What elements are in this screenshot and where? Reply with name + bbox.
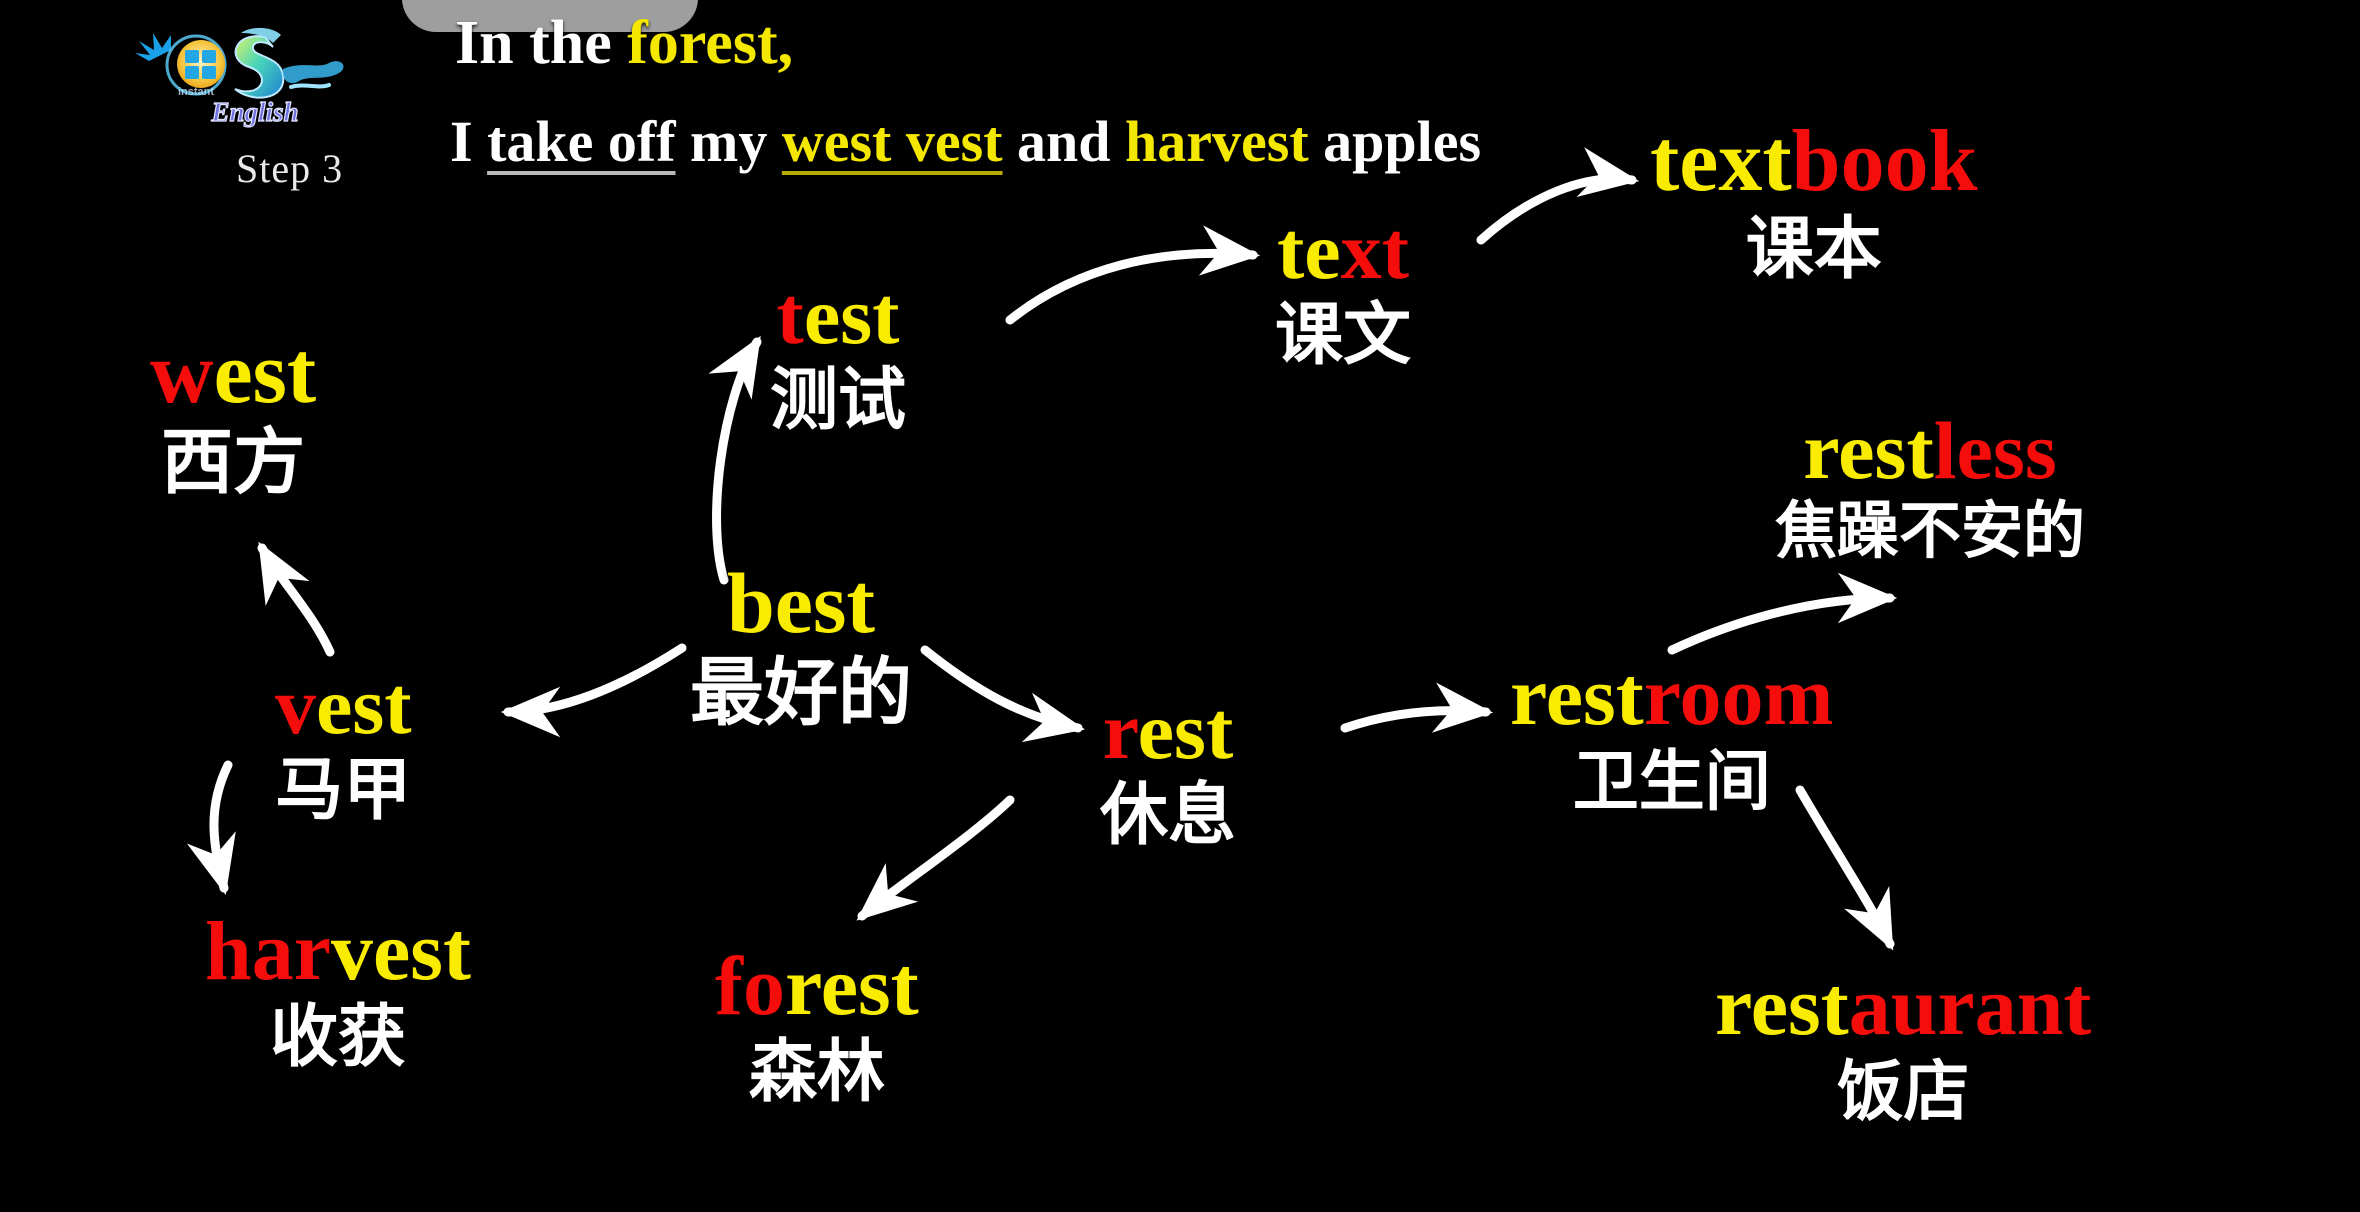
word-restaurant: restaurant	[1715, 965, 2091, 1049]
word-west-prefix: w	[150, 325, 214, 422]
svg-text:instant: instant	[178, 86, 214, 98]
arrow-best-to-test	[717, 342, 757, 580]
step-label: Step 3	[236, 145, 343, 192]
os-english-logo: English instant	[133, 17, 365, 132]
word-textbook-translation: 课本	[1650, 212, 1978, 287]
sentence-line-2: I take off my west vest and harvest appl…	[450, 108, 1481, 175]
word-node-text[interactable]: text 课文	[1275, 210, 1411, 373]
word-forest: forest	[715, 945, 919, 1029]
word-node-restroom[interactable]: restroom 卫生间	[1510, 655, 1833, 818]
word-rest-suffix: est	[1138, 685, 1234, 776]
arrow-best-to-vest	[508, 648, 682, 712]
word-forest-prefix: fo	[715, 940, 785, 1033]
word-node-west[interactable]: west 西方	[150, 330, 316, 503]
word-forest-translation: 森林	[715, 1035, 919, 1110]
word-node-textbook[interactable]: textbook 课本	[1650, 118, 1978, 287]
word-restaurant-suffix: aurant	[1849, 960, 2092, 1053]
arrow-rest-to-forest	[862, 800, 1010, 916]
word-vest-suffix: est	[316, 660, 412, 751]
arrow-rest-to-restroom	[1345, 711, 1486, 728]
word-harvest-suffix: vest	[331, 905, 471, 998]
word-text-suffix: xt	[1341, 205, 1409, 296]
word-west-suffix: est	[214, 325, 317, 422]
word-rest-translation: 休息	[1100, 778, 1236, 853]
word-harvest-prefix: har	[205, 905, 331, 998]
word-restless: restless	[1775, 410, 2085, 492]
word-test-suffix: est	[804, 270, 900, 361]
word-restaurant-prefix: rest	[1715, 960, 1849, 1053]
arrow-best-to-rest	[925, 650, 1078, 728]
word-vest-translation: 马甲	[275, 753, 412, 828]
word-node-restaurant[interactable]: restaurant 饭店	[1715, 965, 2091, 1128]
word-best-prefix: best	[727, 555, 875, 651]
sentence-line1-part-1: In the	[455, 9, 627, 77]
word-vest-prefix: v	[275, 660, 316, 751]
word-node-best[interactable]: best 最好的	[690, 560, 912, 733]
logo-english-text: English	[210, 97, 298, 127]
word-restroom: restroom	[1510, 655, 1833, 739]
sentence-line2-part-2: take off	[487, 109, 675, 174]
sentence-line2-part-4: west vest	[782, 109, 1003, 174]
word-text-translation: 课文	[1275, 298, 1411, 373]
sentence-line1-part-2: forest,	[627, 9, 793, 77]
word-text: text	[1275, 210, 1411, 292]
word-node-test[interactable]: test 测试	[770, 275, 906, 438]
word-restroom-prefix: rest	[1510, 650, 1644, 743]
word-node-harvest[interactable]: harvest 收获	[205, 910, 471, 1075]
word-node-rest[interactable]: rest 休息	[1100, 690, 1236, 853]
word-text-prefix: te	[1277, 205, 1341, 296]
word-textbook: textbook	[1650, 118, 1978, 206]
arrow-vest-to-harvest	[214, 765, 228, 888]
word-best-translation: 最好的	[690, 652, 912, 733]
sentence-line-1: In the forest,	[455, 8, 793, 79]
word-test-prefix: t	[777, 270, 804, 361]
slide-canvas: English instant Step 3 In the forest, I …	[0, 0, 2360, 1212]
word-test-translation: 测试	[770, 363, 906, 438]
word-west: west	[150, 330, 316, 418]
sentence-line2-part-3: my	[676, 109, 782, 174]
word-rest-prefix: r	[1103, 685, 1138, 776]
sentence-line2-part-7: apples	[1309, 109, 1481, 174]
arrow-text-to-textbook	[1481, 179, 1632, 240]
arrow-vest-to-west	[262, 548, 330, 652]
word-restroom-translation: 卫生间	[1510, 745, 1833, 818]
word-textbook-suffix: book	[1792, 113, 1978, 210]
word-rest: rest	[1100, 690, 1236, 772]
word-harvest-translation: 收获	[205, 1000, 471, 1075]
word-harvest: harvest	[205, 910, 471, 994]
word-restless-prefix: rest	[1803, 405, 1934, 496]
word-node-restless[interactable]: restless 焦躁不安的	[1775, 410, 2085, 566]
word-restless-translation: 焦躁不安的	[1775, 498, 2085, 566]
word-west-translation: 西方	[150, 424, 316, 503]
word-node-forest[interactable]: forest 森林	[715, 945, 919, 1110]
word-restless-suffix: less	[1934, 405, 2057, 496]
arrow-restroom-to-restless	[1672, 598, 1890, 650]
sentence-line2-part-5: and	[1003, 109, 1126, 174]
logo-graphic: English instant	[133, 17, 365, 132]
word-restaurant-translation: 饭店	[1715, 1055, 2091, 1128]
word-vest: vest	[275, 665, 412, 747]
arrow-test-to-text	[1010, 253, 1253, 320]
word-restroom-suffix: room	[1644, 650, 1834, 743]
word-best: best	[690, 560, 912, 646]
word-forest-suffix: rest	[785, 940, 919, 1033]
word-node-vest[interactable]: vest 马甲	[275, 665, 412, 828]
word-test: test	[770, 275, 906, 357]
sentence-line2-part-6: harvest	[1125, 109, 1309, 174]
word-textbook-prefix: text	[1650, 113, 1792, 210]
sentence-line2-part-1: I	[450, 109, 487, 174]
